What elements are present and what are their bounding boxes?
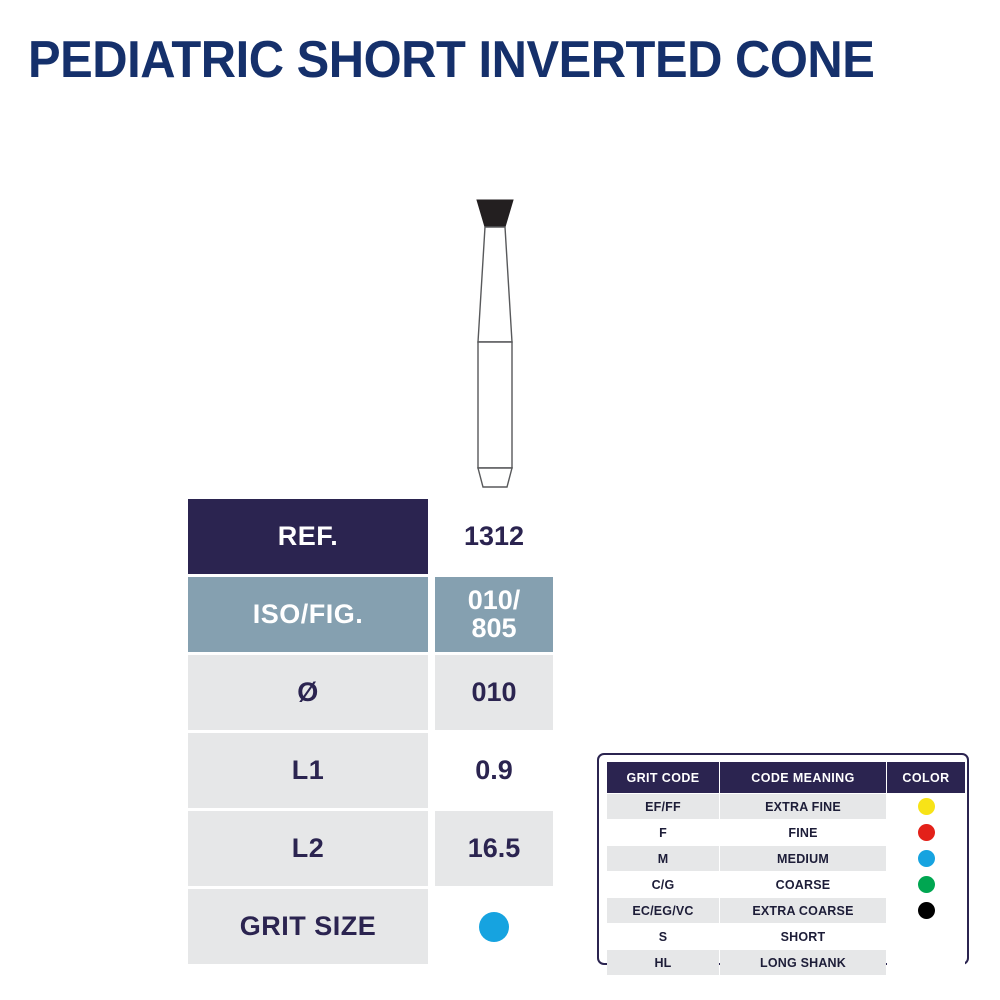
legend-header-grit-code: GRIT CODE xyxy=(607,762,719,793)
spec-label-grit-size: GRIT SIZE xyxy=(188,889,428,964)
legend-cell-code-meaning: MEDIUM xyxy=(720,846,886,871)
legend-row: EC/EG/VCEXTRA COARSE xyxy=(607,898,965,923)
bur-head-icon xyxy=(477,200,513,227)
legend-cell-color xyxy=(887,950,965,975)
legend-cell-grit-code: HL xyxy=(607,950,719,975)
spec-label-ref: REF. xyxy=(188,499,428,574)
legend-cell-color xyxy=(887,924,965,949)
legend-cell-grit-code: S xyxy=(607,924,719,949)
legend-cell-grit-code: C/G xyxy=(607,872,719,897)
table-row: REF. 1312 xyxy=(188,499,553,574)
spec-label-l1: L1 xyxy=(188,733,428,808)
legend-cell-grit-code: M xyxy=(607,846,719,871)
product-spec-sheet: PEDIATRIC SHORT INVERTED CONE REF. 1312 … xyxy=(0,0,1000,1000)
spec-label-iso-fig: ISO/FIG. xyxy=(188,577,428,652)
legend-row: EF/FFEXTRA FINE xyxy=(607,794,965,819)
legend-row: FFINE xyxy=(607,820,965,845)
legend-cell-grit-code: F xyxy=(607,820,719,845)
color-swatch-icon xyxy=(918,850,935,867)
color-swatch-icon xyxy=(918,824,935,841)
color-swatch-icon xyxy=(918,902,935,919)
legend-row: HLLONG SHANK xyxy=(607,950,965,975)
legend-header-row: GRIT CODE CODE MEANING COLOR xyxy=(607,762,965,793)
legend-cell-code-meaning: LONG SHANK xyxy=(720,950,886,975)
legend-cell-code-meaning: EXTRA FINE xyxy=(720,794,886,819)
table-row: L1 0.9 xyxy=(188,733,553,808)
page-title: PEDIATRIC SHORT INVERTED CONE xyxy=(28,30,874,90)
legend-cell-code-meaning: COARSE xyxy=(720,872,886,897)
legend-cell-code-meaning: SHORT xyxy=(720,924,886,949)
spec-value-iso-fig: 010/805 xyxy=(435,577,553,652)
spec-table: REF. 1312 ISO/FIG. 010/805 Ø 010 L1 0.9 … xyxy=(188,499,553,967)
grit-color-dot-icon xyxy=(479,912,509,942)
legend-row: MMEDIUM xyxy=(607,846,965,871)
spec-label-diameter: Ø xyxy=(188,655,428,730)
legend-cell-color xyxy=(887,898,965,923)
legend-cell-color xyxy=(887,846,965,871)
legend-row: C/GCOARSE xyxy=(607,872,965,897)
legend-cell-code-meaning: FINE xyxy=(720,820,886,845)
bur-neck-icon xyxy=(478,227,512,342)
spec-value-diameter: 010 xyxy=(435,655,553,730)
table-row: Ø 010 xyxy=(188,655,553,730)
spec-value-l1: 0.9 xyxy=(435,733,553,808)
spec-value-grit-size xyxy=(435,889,553,964)
grit-code-legend: GRIT CODE CODE MEANING COLOR EF/FFEXTRA … xyxy=(597,753,969,965)
bur-shank-icon xyxy=(478,342,512,468)
legend-cell-color xyxy=(887,794,965,819)
legend-cell-color xyxy=(887,872,965,897)
table-row: GRIT SIZE xyxy=(188,889,553,964)
table-row: ISO/FIG. 010/805 xyxy=(188,577,553,652)
legend-row: SSHORT xyxy=(607,924,965,949)
spec-value-ref: 1312 xyxy=(435,499,553,574)
legend-cell-grit-code: EC/EG/VC xyxy=(607,898,719,923)
legend-table: GRIT CODE CODE MEANING COLOR EF/FFEXTRA … xyxy=(606,761,966,976)
bur-illustration xyxy=(430,180,570,510)
legend-header-color: COLOR xyxy=(887,762,965,793)
spec-value-l2: 16.5 xyxy=(435,811,553,886)
table-row: L2 16.5 xyxy=(188,811,553,886)
legend-cell-grit-code: EF/FF xyxy=(607,794,719,819)
legend-header-code-meaning: CODE MEANING xyxy=(720,762,886,793)
bur-shank-end-icon xyxy=(478,468,512,487)
spec-label-l2: L2 xyxy=(188,811,428,886)
color-swatch-icon xyxy=(918,876,935,893)
legend-cell-color xyxy=(887,820,965,845)
color-swatch-icon xyxy=(918,798,935,815)
legend-cell-code-meaning: EXTRA COARSE xyxy=(720,898,886,923)
